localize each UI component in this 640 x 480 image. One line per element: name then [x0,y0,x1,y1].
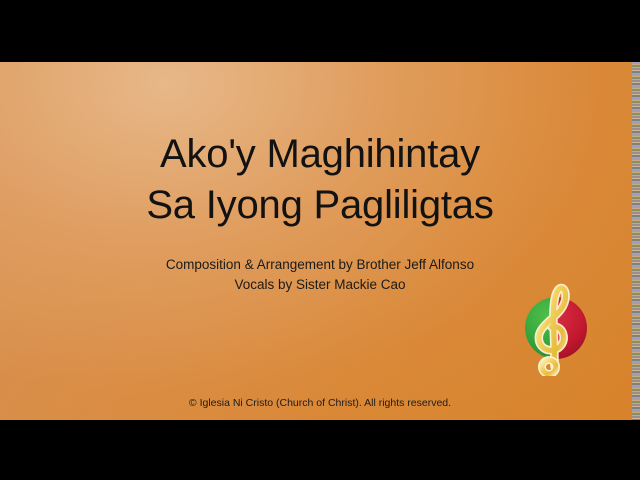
video-edge-noise-strip [632,62,640,420]
title-line-2: Sa Iyong Pagliligtas [0,185,640,225]
letterbox-bar-top [0,0,640,62]
copyright-notice: © Iglesia Ni Cristo (Church of Christ). … [0,397,640,409]
video-frame: Ako'y Maghihintay Sa Iyong Pagliligtas C… [0,0,640,480]
treble-clef-circle-logo [514,280,598,376]
letterbox-bar-bottom [0,420,640,480]
title-line-1: Ako'y Maghihintay [0,134,640,174]
title-slide: Ako'y Maghihintay Sa Iyong Pagliligtas C… [0,62,640,420]
credit-composition-line: Composition & Arrangement by Brother Jef… [0,258,640,272]
